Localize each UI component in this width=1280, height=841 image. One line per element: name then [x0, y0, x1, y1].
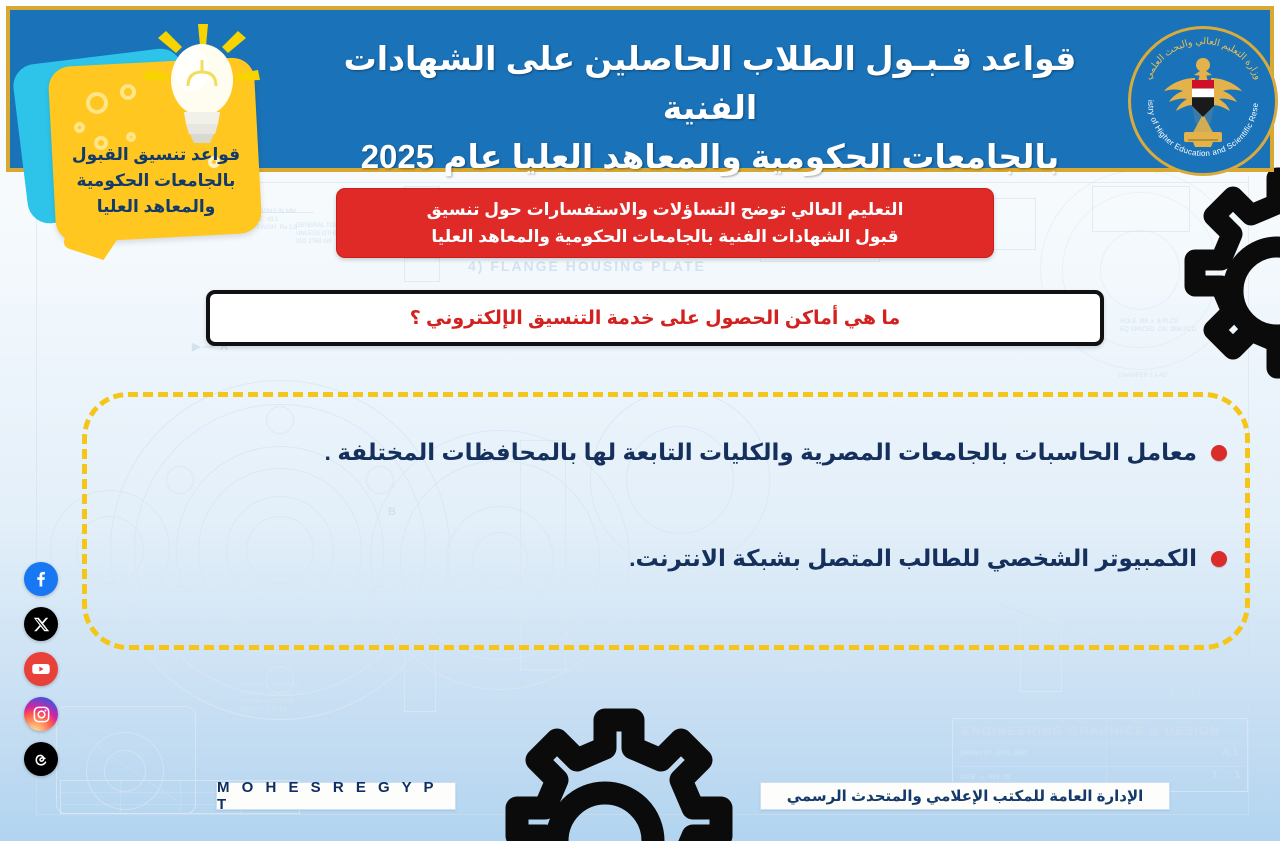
lightbulb-icon [144, 24, 260, 156]
badge-text: قواعد تنسيق القبول بالجامعات الحكومية وا… [58, 142, 254, 220]
social-handle-text: M O H E S R E G Y P T [217, 779, 455, 813]
answer-text: معامل الحاسبات بالجامعات المصرية والكليا… [325, 439, 1197, 466]
infographic-poster: 4) FLANGE HOUSING PLATE SECTION A-A (1 :… [0, 0, 1280, 841]
page-title-line-2: بالجامعات الحكومية والمعاهد العليا عام 2… [310, 132, 1110, 181]
x-twitter-icon[interactable] [24, 607, 58, 641]
badge-bubble-dot [74, 122, 85, 133]
answer-card: معامل الحاسبات بالجامعات المصرية والكليا… [82, 392, 1250, 650]
watermark-titleblock: ENGINEERING GRAPHICS & DESIGN [962, 724, 1220, 738]
watermark-scale: 1 : 1 [1212, 770, 1242, 781]
ministry-logo: وزارة التعليم العالي والبحث العلمي Minis… [1128, 26, 1278, 176]
watermark-sheet-code: A1 [1222, 746, 1240, 758]
social-links [18, 562, 58, 787]
question-box: ما هي أماكن الحصول على خدمة التنسيق الإل… [206, 290, 1104, 346]
instagram-icon[interactable] [24, 697, 58, 731]
badge-text-line-1: قواعد تنسيق القبول [58, 142, 254, 168]
department-pill: الإدارة العامة للمكتب الإعلامي والمتحدث … [760, 782, 1170, 810]
badge-bubble-dot [120, 84, 136, 100]
red-banner-line-1: التعليم العالي توضح التساؤلات والاستفسار… [350, 196, 980, 223]
department-text: الإدارة العامة للمكتب الإعلامي والمتحدث … [787, 787, 1144, 805]
red-banner-text: التعليم العالي توضح التساؤلات والاستفسار… [350, 196, 980, 250]
badge-bubble-dot [126, 132, 136, 142]
badge-bubble-dot [86, 92, 108, 114]
badge-text-line-2: بالجامعات الحكومية [58, 168, 254, 194]
youtube-icon[interactable] [24, 652, 58, 686]
list-item: الكمبيوتر الشخصي للطالب المتصل بشبكة الا… [117, 545, 1227, 572]
list-item: معامل الحاسبات بالجامعات المصرية والكليا… [117, 439, 1227, 466]
gear-icon [470, 706, 740, 841]
bullet-icon [1211, 551, 1227, 567]
question-text: ما هي أماكن الحصول على خدمة التنسيق الإل… [410, 307, 901, 330]
answer-text: الكمبيوتر الشخصي للطالب المتصل بشبكة الا… [629, 545, 1197, 572]
red-announcement-banner: التعليم العالي توضح التساؤلات والاستفسار… [336, 188, 994, 258]
corner-badge: قواعد تنسيق القبول بالجامعات الحكومية وا… [14, 14, 276, 236]
threads-icon[interactable] [24, 742, 58, 776]
eagle-of-saladin-icon [1162, 52, 1244, 148]
red-banner-line-2: قبول الشهادات الفنية بالجامعات الحكومية … [350, 223, 980, 250]
page-title: قواعد قـبـول الطلاب الحاصلين على الشهادا… [310, 34, 1110, 181]
social-handle-pill: M O H E S R E G Y P T [216, 782, 456, 810]
bullet-icon [1211, 445, 1227, 461]
page-title-line-1: قواعد قـبـول الطلاب الحاصلين على الشهادا… [310, 34, 1110, 132]
badge-text-line-3: والمعاهد العليا [58, 194, 254, 220]
facebook-icon[interactable] [24, 562, 58, 596]
watermark-drawing-title: 4) FLANGE HOUSING PLATE [468, 258, 706, 274]
gear-icon [1152, 166, 1280, 416]
